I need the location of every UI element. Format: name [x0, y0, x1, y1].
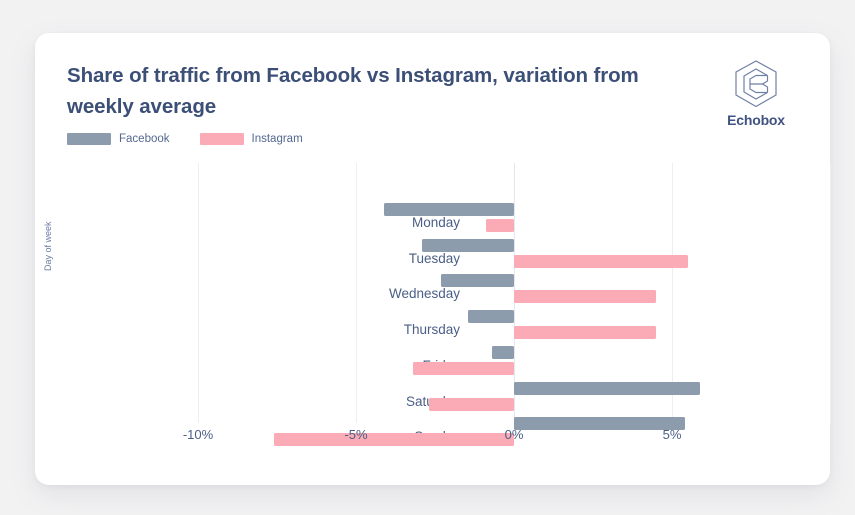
legend-swatch-facebook-icon — [67, 133, 111, 145]
bar-facebook-monday[interactable] — [384, 203, 514, 216]
page-title: Share of traffic from Facebook vs Instag… — [67, 60, 677, 122]
bars-layer — [35, 163, 830, 423]
bar-facebook-saturday[interactable] — [514, 382, 700, 395]
bar-facebook-thursday[interactable] — [468, 310, 514, 323]
legend-label-facebook: Facebook — [119, 133, 170, 145]
x-axis-label-0: 0% — [505, 427, 524, 442]
legend-item-facebook: Facebook — [67, 133, 170, 145]
legend-swatch-instagram-icon — [200, 133, 244, 145]
chart-card: Share of traffic from Facebook vs Instag… — [35, 33, 830, 485]
bar-facebook-tuesday[interactable] — [422, 239, 514, 252]
bar-instagram-friday[interactable] — [413, 362, 514, 375]
bar-facebook-friday[interactable] — [492, 346, 514, 359]
chart-legend: Facebook Instagram — [67, 133, 303, 145]
legend-label-instagram: Instagram — [252, 133, 303, 145]
brand-logo: Echobox — [710, 59, 802, 128]
bar-instagram-thursday[interactable] — [514, 326, 656, 339]
legend-item-instagram: Instagram — [200, 133, 303, 145]
bar-facebook-wednesday[interactable] — [441, 274, 514, 287]
x-axis-label-neg5: -5% — [344, 427, 367, 442]
brand-name: Echobox — [710, 112, 802, 128]
bar-instagram-saturday[interactable] — [429, 398, 514, 411]
plot-area: Day of week MondayTuesdayWednesdayThursd… — [35, 163, 830, 473]
x-axis-label-neg10: -10% — [183, 427, 213, 442]
x-axis-label-5: 5% — [663, 427, 682, 442]
gridline-right-edge — [830, 163, 831, 423]
screenshot-root: Share of traffic from Facebook vs Instag… — [0, 0, 855, 515]
x-axis-tick-labels: -10%-5%0%5% — [35, 427, 830, 449]
bar-instagram-tuesday[interactable] — [514, 255, 688, 268]
bar-instagram-wednesday[interactable] — [514, 290, 656, 303]
echobox-isometric-e-icon — [733, 59, 779, 109]
bar-instagram-monday[interactable] — [486, 219, 514, 232]
